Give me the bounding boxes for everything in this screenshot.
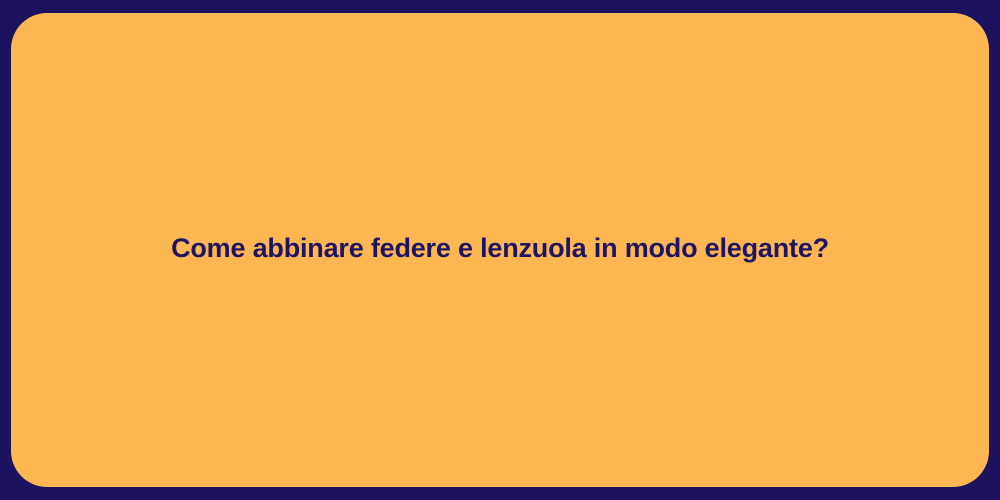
page-title: Come abbinare federe e lenzuola in modo … xyxy=(131,232,869,266)
banner-root: Come abbinare federe e lenzuola in modo … xyxy=(0,0,1000,500)
banner-card: Come abbinare federe e lenzuola in modo … xyxy=(11,13,989,487)
